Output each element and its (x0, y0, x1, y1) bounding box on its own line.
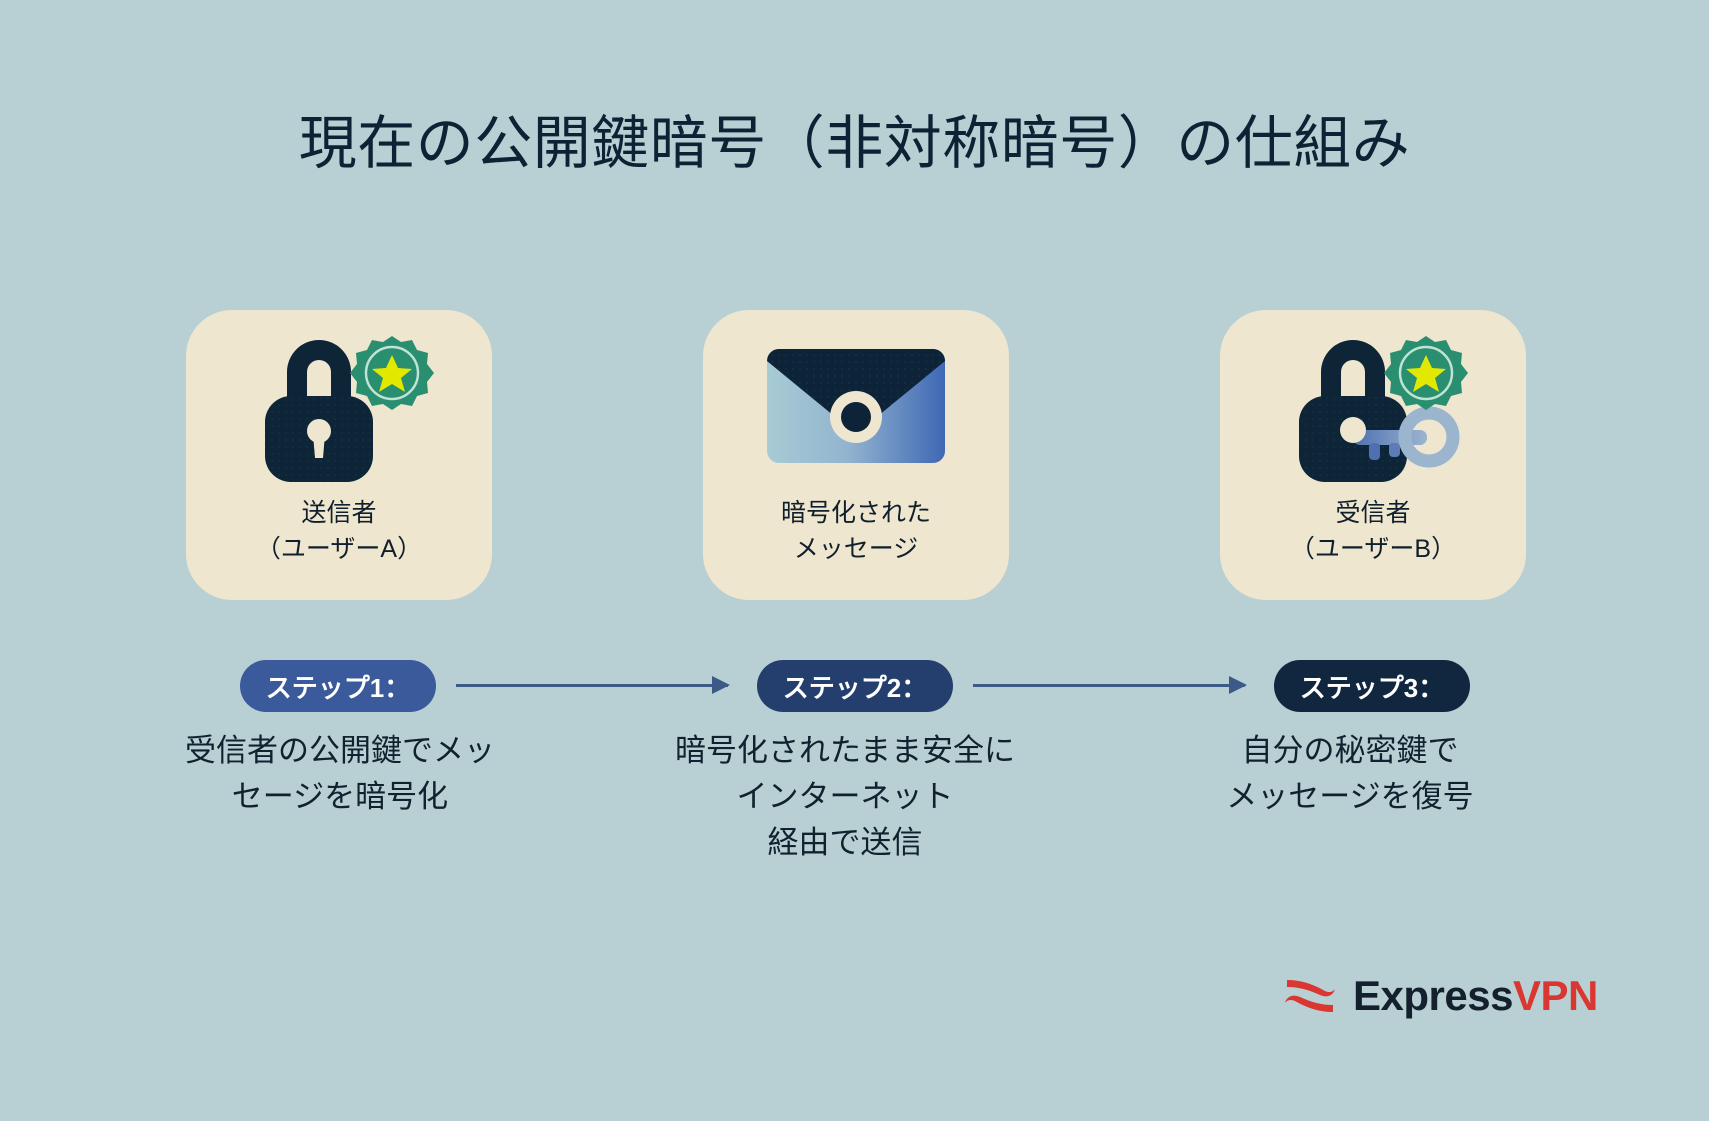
logo-express-text: Express (1353, 972, 1513, 1019)
logo-vpn-text: VPN (1513, 972, 1598, 1019)
flow-arrow-2 (973, 684, 1245, 688)
description-line-2: セージを暗号化 (120, 774, 560, 820)
icon-container (186, 310, 492, 496)
card-receiver: 受信者 （ユーザーB） (1220, 310, 1526, 600)
step-description-1: 受信者の公開鍵でメッ セージを暗号化 (120, 728, 560, 820)
arrow-head-icon (712, 676, 730, 694)
envelope-icon (763, 339, 949, 473)
logo-wordmark: ExpressVPN (1353, 975, 1598, 1017)
card-encrypted-message: 暗号化された メッセージ (703, 310, 1009, 600)
step-description-3: 自分の秘密鍵で メッセージを復号 (1130, 728, 1570, 820)
caption-line-1: 受信者 (1290, 496, 1456, 532)
page-title: 現在の公開鍵暗号（非対称暗号）の仕組み (0, 96, 1709, 180)
caption-line-2: （ユーザーB） (1290, 532, 1456, 568)
caption-line-1: 送信者 (256, 496, 422, 532)
caption-line-1: 暗号化された (781, 496, 931, 532)
card-caption-sender: 送信者 （ユーザーA） (256, 496, 422, 567)
infographic-page: 現在の公開鍵暗号（非対称暗号）の仕組み (0, 0, 1709, 1121)
description-line-3: 経由で送信 (620, 820, 1070, 866)
description-line-1: 自分の秘密鍵で (1130, 728, 1570, 774)
arrow-line (973, 684, 1245, 687)
step-badge-2: ステップ2： (757, 660, 953, 712)
card-caption-receiver: 受信者 （ユーザーB） (1290, 496, 1456, 567)
icon-container (703, 310, 1009, 496)
arrow-line (456, 684, 728, 687)
lock-with-key-and-badge-icon (1269, 326, 1477, 486)
step-description-2: 暗号化されたまま安全に インターネット 経由で送信 (620, 728, 1070, 866)
card-sender: 送信者 （ユーザーA） (186, 310, 492, 600)
description-line-2: インターネット (620, 774, 1070, 820)
steps-row: ステップ1： ステップ2： ステップ3： (0, 660, 1709, 714)
expressvpn-logo: ExpressVPN (1279, 972, 1598, 1020)
description-line-1: 受信者の公開鍵でメッ (120, 728, 560, 774)
caption-line-2: （ユーザーA） (256, 532, 422, 568)
lock-with-badge-icon (235, 326, 443, 486)
description-line-1: 暗号化されたまま安全に (620, 728, 1070, 774)
flow-arrow-1 (456, 684, 728, 688)
step-badge-1: ステップ1： (240, 660, 436, 712)
step-badge-3: ステップ3： (1274, 660, 1470, 712)
description-line-2: メッセージを復号 (1130, 774, 1570, 820)
caption-line-2: メッセージ (781, 532, 931, 568)
expressvpn-mark-icon (1279, 972, 1341, 1020)
icon-container (1220, 310, 1526, 496)
card-caption-encrypted-message: 暗号化された メッセージ (781, 496, 931, 567)
arrow-head-icon (1229, 676, 1247, 694)
cards-row: 送信者 （ユーザーA） (0, 310, 1709, 600)
